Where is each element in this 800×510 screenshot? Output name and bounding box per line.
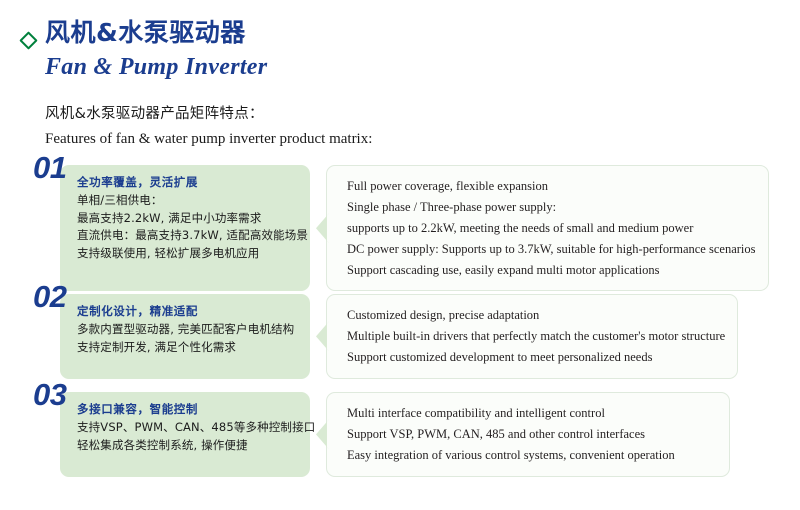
fan-pump-inverter-page: { "colors": { "brand_navy": "#1b3d8f", "… <box>0 0 800 510</box>
pointer-notch-icon <box>316 321 329 351</box>
feature-item: 01 全功率覆盖，灵活扩展 单相/三相供电： 最高支持2.2kW, 满足中小功率… <box>0 150 800 265</box>
feature-body: 全功率覆盖，灵活扩展 单相/三相供电： 最高支持2.2kW, 满足中小功率需求 … <box>60 165 730 291</box>
feature-line-cn: 轻松集成各类控制系统, 操作便捷 <box>77 437 300 454</box>
feature-line-cn: 多款内置型驱动器, 完美匹配客户电机结构 <box>77 321 300 338</box>
subtitle-en: Features of fan & water pump inverter pr… <box>45 129 800 151</box>
feature-pane-cn: 多接口兼容，智能控制 支持VSP、PWM、CAN、485等多种控制接口 轻松集成… <box>60 392 310 477</box>
feature-line-cn: 单相/三相供电： <box>77 192 300 209</box>
feature-list: 01 全功率覆盖，灵活扩展 单相/三相供电： 最高支持2.2kW, 满足中小功率… <box>0 150 800 475</box>
feature-heading-cn: 全功率覆盖，灵活扩展 <box>77 174 300 191</box>
feature-line-en: Multiple built-in drivers that perfectly… <box>347 326 725 347</box>
feature-line-en: Support VSP, PWM, CAN, 485 and other con… <box>347 424 717 445</box>
diamond-outline-icon <box>21 33 34 46</box>
feature-line-en: Multi interface compatibility and intell… <box>347 403 717 424</box>
page-title-cn: 风机&水泵驱动器 <box>45 18 267 49</box>
feature-line-en: Support cascading use, easily expand mul… <box>347 260 756 281</box>
feature-item: 02 定制化设计，精准适配 多款内置型驱动器, 完美匹配客户电机结构 支持定制开… <box>0 279 800 363</box>
feature-body: 定制化设计，精准适配 多款内置型驱动器, 完美匹配客户电机结构 支持定制开发, … <box>60 294 730 379</box>
feature-heading-cn: 多接口兼容，智能控制 <box>77 401 300 418</box>
subtitle-block: 风机&水泵驱动器产品矩阵特点： Features of fan & water … <box>45 104 800 151</box>
feature-line-cn: 支持级联使用, 轻松扩展多电机应用 <box>77 245 300 262</box>
feature-number: 02 <box>33 279 66 315</box>
feature-pane-cn: 全功率覆盖，灵活扩展 单相/三相供电： 最高支持2.2kW, 满足中小功率需求 … <box>60 165 310 291</box>
feature-line-en: Customized design, precise adaptation <box>347 305 725 326</box>
feature-line-cn: 最高支持2.2kW, 满足中小功率需求 <box>77 210 300 227</box>
feature-line-cn: 支持VSP、PWM、CAN、485等多种控制接口 <box>77 419 300 436</box>
feature-pane-en: Full power coverage, flexible expansion … <box>326 165 769 291</box>
feature-body: 多接口兼容，智能控制 支持VSP、PWM、CAN、485等多种控制接口 轻松集成… <box>60 392 730 477</box>
feature-line-cn: 支持定制开发, 满足个性化需求 <box>77 339 300 356</box>
feature-line-en: Support customized development to meet p… <box>347 347 725 368</box>
feature-line-cn: 直流供电：最高支持3.7kW, 适配高效能场景 <box>77 227 300 244</box>
feature-item: 03 多接口兼容，智能控制 支持VSP、PWM、CAN、485等多种控制接口 轻… <box>0 377 800 461</box>
pointer-notch-icon <box>316 213 329 243</box>
feature-number: 03 <box>33 377 66 413</box>
feature-pane-en: Multi interface compatibility and intell… <box>326 392 730 477</box>
feature-line-en: Single phase / Three-phase power supply: <box>347 197 756 218</box>
feature-heading-cn: 定制化设计，精准适配 <box>77 303 300 320</box>
page-header: 风机&水泵驱动器 Fan & Pump Inverter 风机&水泵驱动器产品矩… <box>0 18 800 151</box>
feature-line-en: Easy integration of various control syst… <box>347 445 717 466</box>
subtitle-cn: 风机&水泵驱动器产品矩阵特点： <box>45 104 800 125</box>
feature-number: 01 <box>33 150 66 186</box>
feature-line-en: Full power coverage, flexible expansion <box>347 176 756 197</box>
title-row: 风机&水泵驱动器 Fan & Pump Inverter <box>0 18 800 82</box>
pointer-notch-icon <box>316 419 329 449</box>
title-block: 风机&水泵驱动器 Fan & Pump Inverter <box>45 18 267 82</box>
feature-line-en: supports up to 2.2kW, meeting the needs … <box>347 218 756 239</box>
feature-pane-cn: 定制化设计，精准适配 多款内置型驱动器, 完美匹配客户电机结构 支持定制开发, … <box>60 294 310 379</box>
feature-pane-en: Customized design, precise adaptation Mu… <box>326 294 738 379</box>
feature-line-en: DC power supply: Supports up to 3.7kW, s… <box>347 239 756 260</box>
page-title-en: Fan & Pump Inverter <box>45 52 267 83</box>
